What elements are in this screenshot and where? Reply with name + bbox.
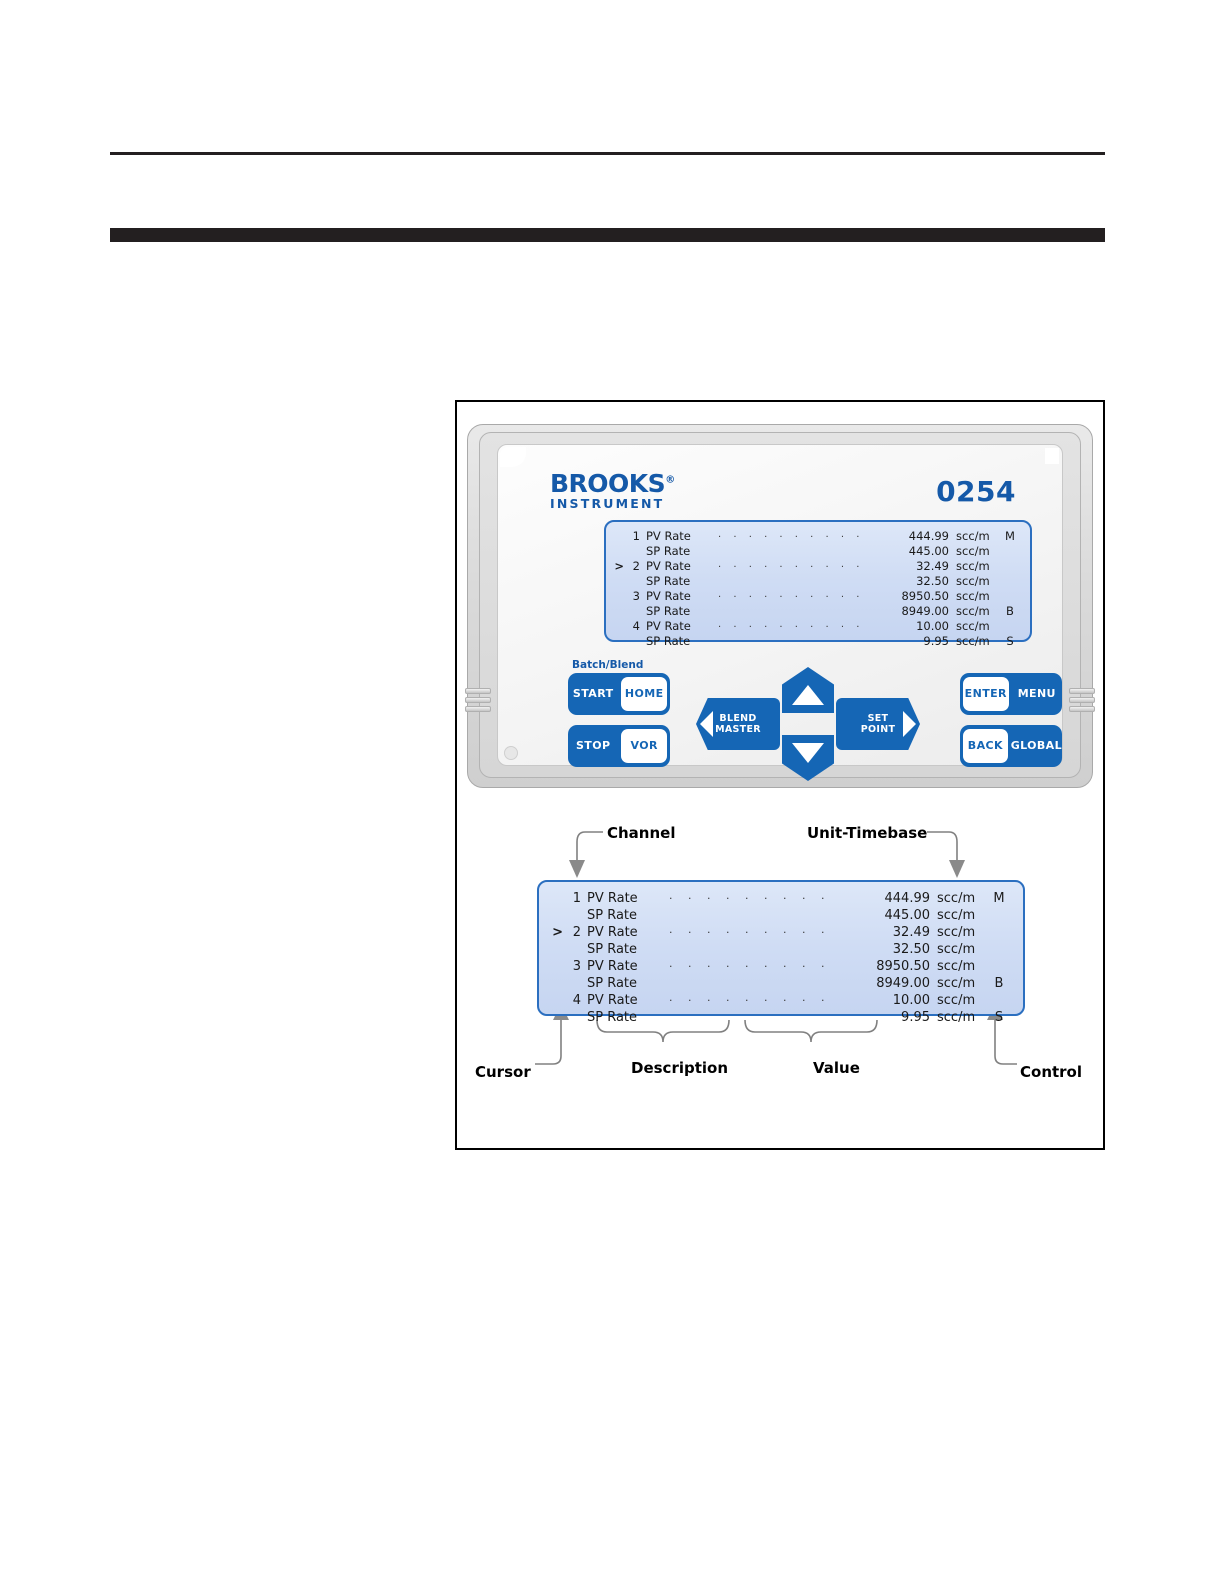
lcd-description: SP Rate — [587, 941, 665, 958]
blend-master-label-line1: BLEND — [719, 713, 756, 724]
lcd-unit-timebase: scc/m — [937, 975, 987, 992]
up-arrow-key[interactable] — [782, 667, 834, 713]
lcd-cursor-marker: > — [610, 559, 624, 574]
lcd-value: 444.99 — [871, 529, 956, 544]
bezel-ridges-left — [465, 688, 491, 714]
lcd-unit-timebase: scc/m — [956, 589, 1000, 604]
lcd-value: 32.50 — [838, 941, 937, 958]
lcd-description: SP Rate — [646, 604, 714, 619]
lcd-row: >2PV Rate· · · · · · · · · · · · · · · ·… — [545, 924, 1011, 941]
registered-mark-icon: ® — [665, 475, 675, 486]
menu-button-label[interactable]: MENU — [1012, 673, 1062, 715]
lcd-description: SP Rate — [587, 907, 665, 924]
lcd-leader-dots: · · · · · · · · · · · · · · · · · · · · — [665, 890, 838, 907]
set-point-key[interactable]: SET POINT — [836, 698, 920, 750]
lcd-description: SP Rate — [646, 574, 714, 589]
lcd-description: PV Rate — [587, 890, 665, 907]
lcd-row: SP Rate8949.00scc/mB — [610, 604, 1020, 619]
callout-unit-timebase: Unit-Timebase — [807, 824, 927, 842]
lcd-unit-timebase: scc/m — [937, 924, 987, 941]
lcd-unit-timebase: scc/m — [956, 559, 1000, 574]
lcd-control-flag: S — [1000, 634, 1020, 649]
callout-description: Description — [631, 1059, 728, 1077]
lcd-channel-number: 1 — [624, 529, 646, 544]
lcd-leader-dots: · · · · · · · · · · · · · · · · · · · · — [714, 620, 871, 635]
lcd-value: 8950.50 — [838, 958, 937, 975]
lcd-unit-timebase: scc/m — [937, 992, 987, 1009]
lcd-description: PV Rate — [646, 589, 714, 604]
down-arrow-icon — [792, 743, 824, 763]
lcd-value: 32.50 — [871, 574, 956, 589]
lcd-description: PV Rate — [646, 559, 714, 574]
lcd-leader-dots: · · · · · · · · · · · · · · · · · · · · — [665, 924, 838, 941]
back-global-key[interactable]: BACK GLOBAL — [960, 725, 1062, 767]
diagram-lcd-screen: 1PV Rate· · · · · · · · · · · · · · · · … — [537, 880, 1025, 1016]
lcd-channel-number: 2 — [624, 559, 646, 574]
lcd-description: SP Rate — [587, 1009, 665, 1026]
lcd-unit-timebase: scc/m — [937, 941, 987, 958]
lcd-control-flag: M — [1000, 529, 1020, 544]
annotated-display-diagram: 1PV Rate· · · · · · · · · · · · · · · · … — [457, 808, 1103, 1148]
model-number: 0254 — [936, 475, 1016, 508]
lcd-row: SP Rate9.95scc/mS — [545, 1009, 1011, 1026]
lcd-leader-dots: · · · · · · · · · · · · · · · · · · · · — [714, 560, 871, 575]
lcd-channel-number: 3 — [563, 958, 587, 975]
bezel-ridges-right — [1069, 688, 1095, 714]
lcd-value: 445.00 — [871, 544, 956, 559]
callout-channel: Channel — [607, 824, 675, 842]
lcd-row: 4PV Rate· · · · · · · · · · · · · · · · … — [610, 619, 1020, 634]
lcd-cursor-marker: > — [545, 924, 563, 941]
blend-master-key[interactable]: BLEND MASTER — [696, 698, 780, 750]
lcd-description: SP Rate — [646, 544, 714, 559]
lcd-unit-timebase: scc/m — [956, 544, 1000, 559]
lcd-row: SP Rate8949.00scc/mB — [545, 975, 1011, 992]
callout-control: Control — [1020, 1063, 1082, 1081]
figure-container: BROOKS® INSTRUMENT 0254 1PV Rate· · · · … — [455, 400, 1105, 1150]
lcd-leader-dots: · · · · · · · · · · · · · · · · · · · · — [665, 992, 838, 1009]
lcd-control-flag: B — [987, 975, 1011, 992]
lcd-control-flag: S — [987, 1009, 1011, 1026]
global-button-label[interactable]: GLOBAL — [1011, 725, 1062, 767]
blend-master-label-line2: MASTER — [715, 724, 761, 735]
lcd-row: SP Rate445.00scc/m — [610, 544, 1020, 559]
lcd-description: PV Rate — [587, 958, 665, 975]
lcd-unit-timebase: scc/m — [937, 958, 987, 975]
lcd-value: 445.00 — [838, 907, 937, 924]
lcd-value: 32.49 — [871, 559, 956, 574]
back-button-label[interactable]: BACK — [963, 729, 1008, 763]
lcd-row: 1PV Rate· · · · · · · · · · · · · · · · … — [610, 529, 1020, 544]
stop-button-label[interactable]: STOP — [568, 725, 618, 767]
header-thin-rule — [110, 152, 1105, 155]
header-thick-bar — [110, 228, 1105, 242]
lcd-unit-timebase: scc/m — [937, 1009, 987, 1026]
lcd-leader-dots: · · · · · · · · · · · · · · · · · · · · — [714, 530, 871, 545]
device-lcd-rows: 1PV Rate· · · · · · · · · · · · · · · · … — [610, 529, 1020, 649]
lcd-description: PV Rate — [587, 924, 665, 941]
lcd-channel-number: 2 — [563, 924, 587, 941]
lcd-description: PV Rate — [587, 992, 665, 1009]
lcd-value: 8949.00 — [838, 975, 937, 992]
lcd-value: 10.00 — [871, 619, 956, 634]
face-corner-highlight — [1045, 448, 1059, 464]
lcd-channel-number: 4 — [624, 619, 646, 634]
lcd-unit-timebase: scc/m — [937, 890, 987, 907]
lcd-description: PV Rate — [646, 619, 714, 634]
lcd-row: SP Rate32.50scc/m — [545, 941, 1011, 958]
lcd-unit-timebase: scc/m — [956, 529, 1000, 544]
lcd-channel-number: 1 — [563, 890, 587, 907]
lcd-row: SP Rate445.00scc/m — [545, 907, 1011, 924]
callout-cursor: Cursor — [475, 1063, 531, 1081]
lcd-row: 1PV Rate· · · · · · · · · · · · · · · · … — [545, 890, 1011, 907]
brand-subtitle: INSTRUMENT — [550, 498, 675, 511]
lcd-value: 444.99 — [838, 890, 937, 907]
lcd-value: 8950.50 — [871, 589, 956, 604]
device-front-face: BROOKS® INSTRUMENT 0254 1PV Rate· · · · … — [497, 444, 1063, 766]
lcd-leader-dots: · · · · · · · · · · · · · · · · · · · · — [714, 590, 871, 605]
brooks-logo: BROOKS® INSTRUMENT — [550, 471, 675, 511]
lcd-value: 32.49 — [838, 924, 937, 941]
home-button-label[interactable]: HOME — [621, 677, 667, 711]
lcd-row: SP Rate32.50scc/m — [610, 574, 1020, 589]
lcd-unit-timebase: scc/m — [956, 604, 1000, 619]
stop-vor-key[interactable]: STOP VOR — [568, 725, 670, 767]
lcd-control-flag: B — [1000, 604, 1020, 619]
lcd-unit-timebase: scc/m — [956, 574, 1000, 589]
brand-name: BROOKS — [550, 469, 665, 498]
start-home-key[interactable]: START HOME — [568, 673, 670, 715]
set-point-label-line1: SET — [868, 713, 889, 724]
callout-value: Value — [813, 1059, 860, 1077]
lcd-row: SP Rate9.95scc/mS — [610, 634, 1020, 649]
lcd-unit-timebase: scc/m — [956, 619, 1000, 634]
up-arrow-icon — [792, 685, 824, 705]
lcd-row: 3PV Rate· · · · · · · · · · · · · · · · … — [545, 958, 1011, 975]
lcd-channel-number: 4 — [563, 992, 587, 1009]
diagram-lcd-rows: 1PV Rate· · · · · · · · · · · · · · · · … — [545, 890, 1011, 1026]
lcd-row: 3PV Rate· · · · · · · · · · · · · · · · … — [610, 589, 1020, 604]
device-lcd-screen: 1PV Rate· · · · · · · · · · · · · · · · … — [604, 520, 1032, 642]
face-screw-bottom-left — [504, 746, 518, 760]
lcd-channel-number: 3 — [624, 589, 646, 604]
lcd-value: 9.95 — [871, 634, 956, 649]
batch-blend-label: Batch/Blend — [572, 659, 643, 671]
lcd-description: PV Rate — [646, 529, 714, 544]
lcd-description: SP Rate — [587, 975, 665, 992]
lcd-description: SP Rate — [646, 634, 714, 649]
vor-button-label[interactable]: VOR — [621, 729, 667, 763]
set-point-label-line2: POINT — [861, 724, 896, 735]
lcd-value: 8949.00 — [871, 604, 956, 619]
lcd-control-flag: M — [987, 890, 1011, 907]
lcd-unit-timebase: scc/m — [956, 634, 1000, 649]
enter-menu-key[interactable]: ENTER MENU — [960, 673, 1062, 715]
start-button-label[interactable]: START — [568, 673, 618, 715]
enter-button-label[interactable]: ENTER — [963, 677, 1009, 711]
lcd-unit-timebase: scc/m — [937, 907, 987, 924]
lcd-leader-dots: · · · · · · · · · · · · · · · · · · · · — [665, 958, 838, 975]
lcd-value: 9.95 — [838, 1009, 937, 1026]
lcd-value: 10.00 — [838, 992, 937, 1009]
lcd-row: 4PV Rate· · · · · · · · · · · · · · · · … — [545, 992, 1011, 1009]
lcd-row: >2PV Rate· · · · · · · · · · · · · · · ·… — [610, 559, 1020, 574]
device-illustration: BROOKS® INSTRUMENT 0254 1PV Rate· · · · … — [463, 420, 1097, 792]
